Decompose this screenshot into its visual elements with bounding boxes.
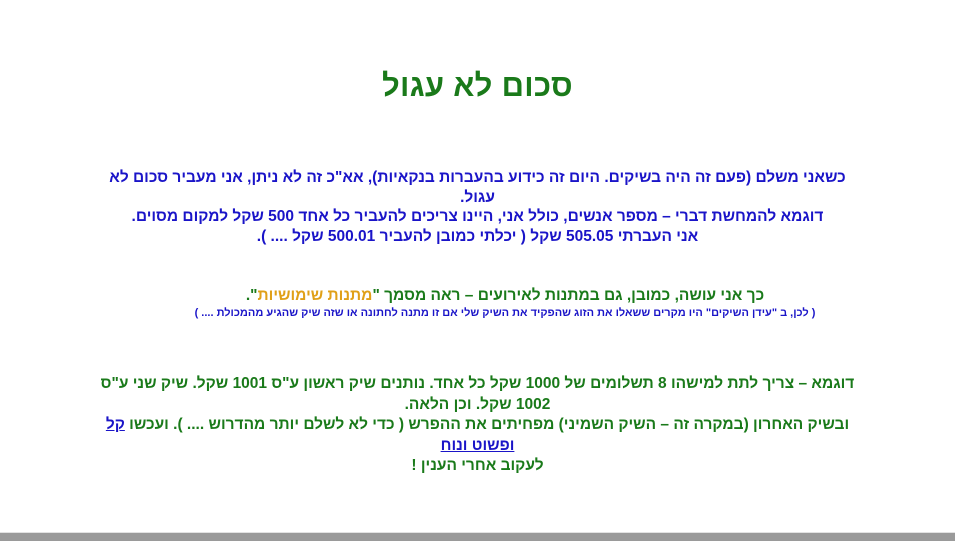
intro-line-3: אני העברתי 505.05 שקל ( יכלתי כמובן להעב… [95,227,860,247]
checks-paragraph: דוגמא – צריך לתת למישהו 8 תשלומים של 100… [95,374,860,477]
checks-line-3: לעקוב אחרי הענין ! [95,456,860,477]
intro-line-1: כשאני משלם (פעם זה היה בשיקים. היום זה כ… [95,168,860,207]
slide-canvas: סכום לא עגול כשאני משלם (פעם זה היה בשיק… [0,0,955,550]
intro-line-2: דוגמא להמחשת דברי – מספר אנשים, כולל אני… [95,207,860,227]
bottom-scroll-area [0,528,955,550]
checks-line-2: ובשיק האחרון (במקרה זה – השיק השמיני) מפ… [95,415,860,456]
page-title: סכום לא עגול [0,68,955,104]
gifts-text-before: כך אני עושה, כמובן, גם במתנות לאירועים –… [372,287,764,304]
checks-line-1: דוגמא – צריך לתת למישהו 8 תשלומים של 100… [95,374,860,415]
intro-paragraph: כשאני משלם (פעם זה היה בשיקים. היום זה כ… [95,168,860,246]
gifts-note: ( לכן, ב "עידן השיקים" היו מקרים ששאלו א… [150,306,860,321]
gifts-text-after: ". [246,287,258,304]
gifts-paragraph: כך אני עושה, כמובן, גם במתנות לאירועים –… [150,286,860,306]
scrollbar-shadow [0,541,955,550]
gifts-document-link[interactable]: מתנות שימושיות [258,287,373,304]
checks-line-2-text: ובשיק האחרון (במקרה זה – השיק השמיני) מפ… [125,416,849,433]
